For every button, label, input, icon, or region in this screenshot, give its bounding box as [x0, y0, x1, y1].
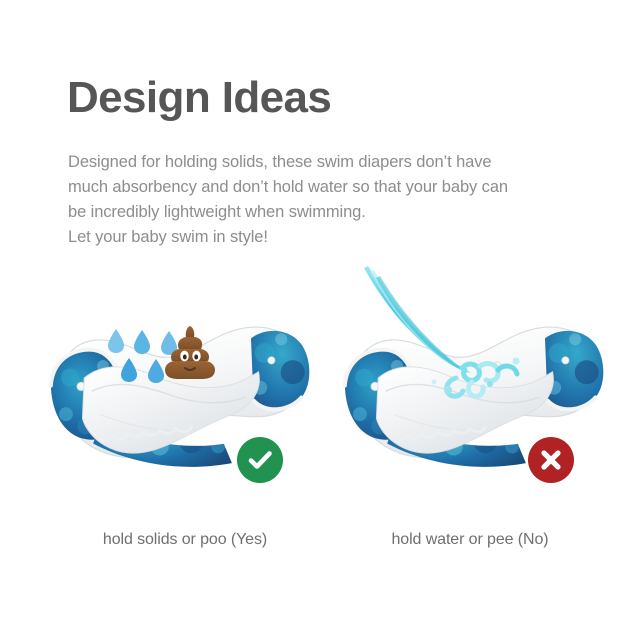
product-photo-no: [322, 262, 622, 502]
comparison-panel-yes: [28, 262, 328, 562]
product-photo-yes: [28, 262, 328, 502]
description-line-3: be incredibly lightweight when swimming.: [68, 200, 588, 225]
page-title: Design Ideas: [67, 74, 331, 122]
water-droplet-icon: [106, 328, 126, 354]
comparison-panel-no: [322, 262, 622, 562]
description-line-2: much absorbency and don’t hold water so …: [68, 175, 588, 200]
cross-icon: [536, 445, 566, 475]
poop-emoji-icon: [161, 324, 219, 380]
caption-yes: hold solids or poo (Yes): [35, 531, 335, 549]
check-badge: [237, 437, 283, 483]
description-block: Designed for holding solids, these swim …: [68, 150, 588, 250]
water-droplet-icon: [119, 357, 139, 383]
cross-badge: [528, 437, 574, 483]
water-droplet-icon: [132, 329, 152, 355]
check-icon: [245, 445, 275, 475]
description-line-4: Let your baby swim in style!: [68, 225, 588, 250]
caption-no: hold water or pee (No): [320, 531, 620, 549]
description-line-1: Designed for holding solids, these swim …: [68, 150, 588, 175]
swim-diaper-illustration: [332, 296, 617, 483]
